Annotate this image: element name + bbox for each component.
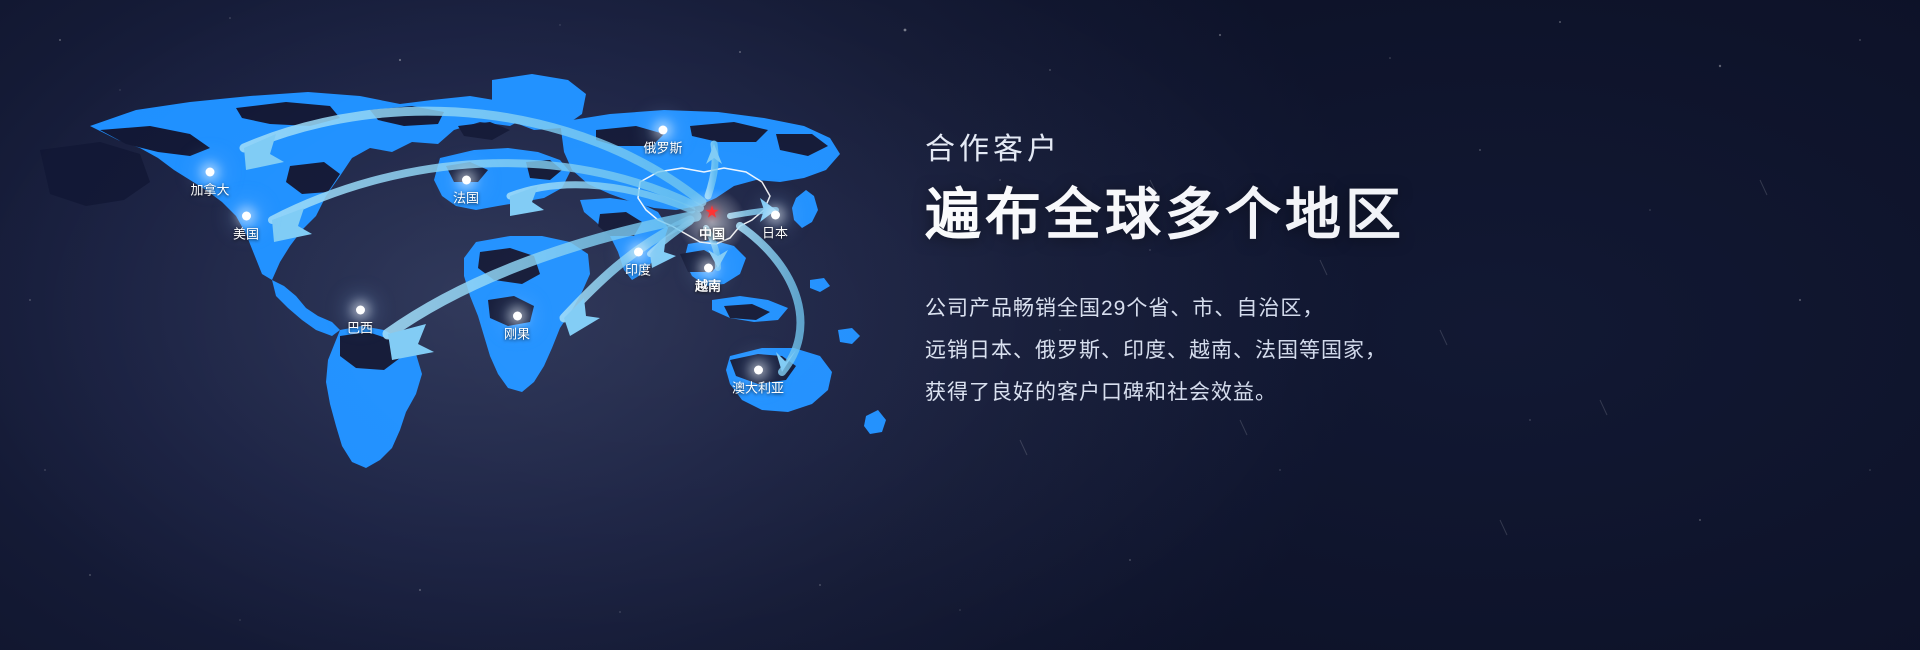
description-line-1: 公司产品畅销全国29个省、市、自治区， <box>925 288 1745 330</box>
china-glow <box>678 188 746 256</box>
description-paragraph: 公司产品畅销全国29个省、市、自治区，远销日本、俄罗斯、印度、越南、法国等国家，… <box>925 288 1745 414</box>
world-map: 加拿大美国巴西法国刚果俄罗斯印度越南日本澳大利亚★中国 <box>40 30 960 550</box>
description-line-3: 获得了良好的客户口碑和社会效益。 <box>925 372 1745 414</box>
description-line-2: 远销日本、俄罗斯、印度、越南、法国等国家， <box>925 330 1745 372</box>
world-map-svg <box>40 30 960 550</box>
banner-copy: 合作客户 遍布全球多个地区 公司产品畅销全国29个省、市、自治区，远销日本、俄罗… <box>925 132 1745 414</box>
global-clients-banner: 加拿大美国巴西法国刚果俄罗斯印度越南日本澳大利亚★中国 合作客户 遍布全球多个地… <box>0 0 1920 650</box>
page-title: 遍布全球多个地区 <box>925 182 1745 248</box>
eyebrow-text: 合作客户 <box>925 132 1745 168</box>
